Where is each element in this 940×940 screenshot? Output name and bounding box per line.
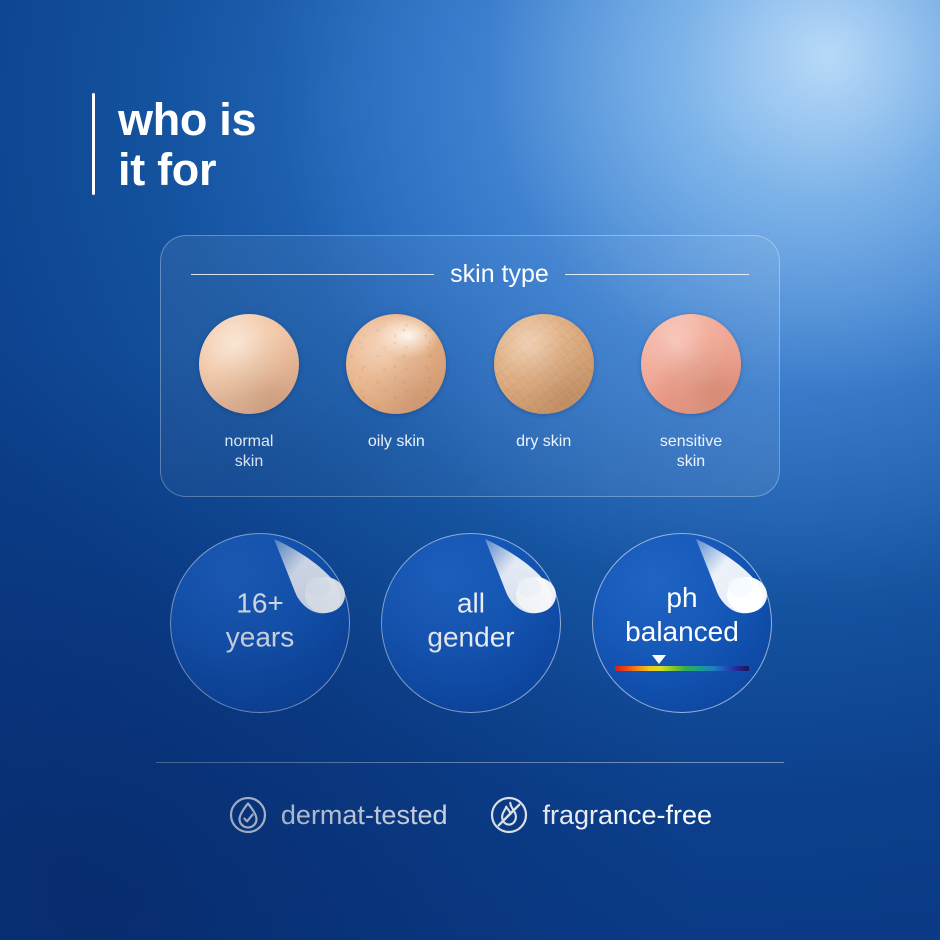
ph-badge-label: ph balanced — [592, 581, 772, 649]
badge-row: 16+ years all gender — [170, 533, 770, 713]
gender-badge: all gender — [381, 533, 561, 713]
page-title: who is it for — [92, 93, 256, 195]
infographic-canvas: who is it for skin type normal skin oily… — [0, 0, 940, 940]
claims-row: dermat-tested fragrance-free — [0, 795, 940, 835]
sensitive-skin-image — [641, 314, 741, 414]
section-divider — [156, 762, 784, 763]
skin-type-header: skin type — [191, 259, 749, 289]
skin-swatch-dry: dry skin — [478, 314, 610, 472]
dry-skin-image — [494, 314, 594, 414]
claim-dermat-tested-label: dermat-tested — [281, 799, 448, 831]
ph-scale — [615, 653, 749, 671]
skin-swatch-sensitive: sensitive skin — [625, 314, 757, 472]
skin-swatch-oily: oily skin — [330, 314, 462, 472]
skin-type-panel: skin type normal skin oily skin dry skin… — [160, 235, 780, 497]
claim-dermat-tested: dermat-tested — [228, 795, 448, 835]
skin-swatch-row: normal skin oily skin dry skin sensitive… — [183, 314, 757, 472]
gender-badge-label: all gender — [381, 586, 561, 654]
claim-fragrance-free: fragrance-free — [489, 795, 712, 835]
title-accent-bar — [92, 93, 95, 195]
oily-skin-label: oily skin — [368, 432, 425, 452]
normal-skin-label: normal skin — [225, 432, 274, 472]
title-text: who is it for — [118, 93, 256, 195]
ph-badge: ph balanced — [592, 533, 772, 713]
normal-skin-image — [199, 314, 299, 414]
age-badge-label: 16+ years — [170, 586, 350, 654]
ph-marker-icon — [652, 655, 666, 664]
header-rule-right — [565, 274, 749, 275]
oily-skin-image — [346, 314, 446, 414]
dry-skin-label: dry skin — [516, 432, 571, 452]
ph-gradient-bar — [615, 666, 749, 671]
no-fragrance-icon — [489, 795, 529, 835]
claim-fragrance-free-label: fragrance-free — [542, 799, 712, 831]
age-badge: 16+ years — [170, 533, 350, 713]
skin-type-title: skin type — [450, 259, 549, 289]
sensitive-skin-label: sensitive skin — [660, 432, 722, 472]
droplet-check-icon — [228, 795, 268, 835]
skin-swatch-normal: normal skin — [183, 314, 315, 472]
header-rule-left — [191, 274, 434, 275]
